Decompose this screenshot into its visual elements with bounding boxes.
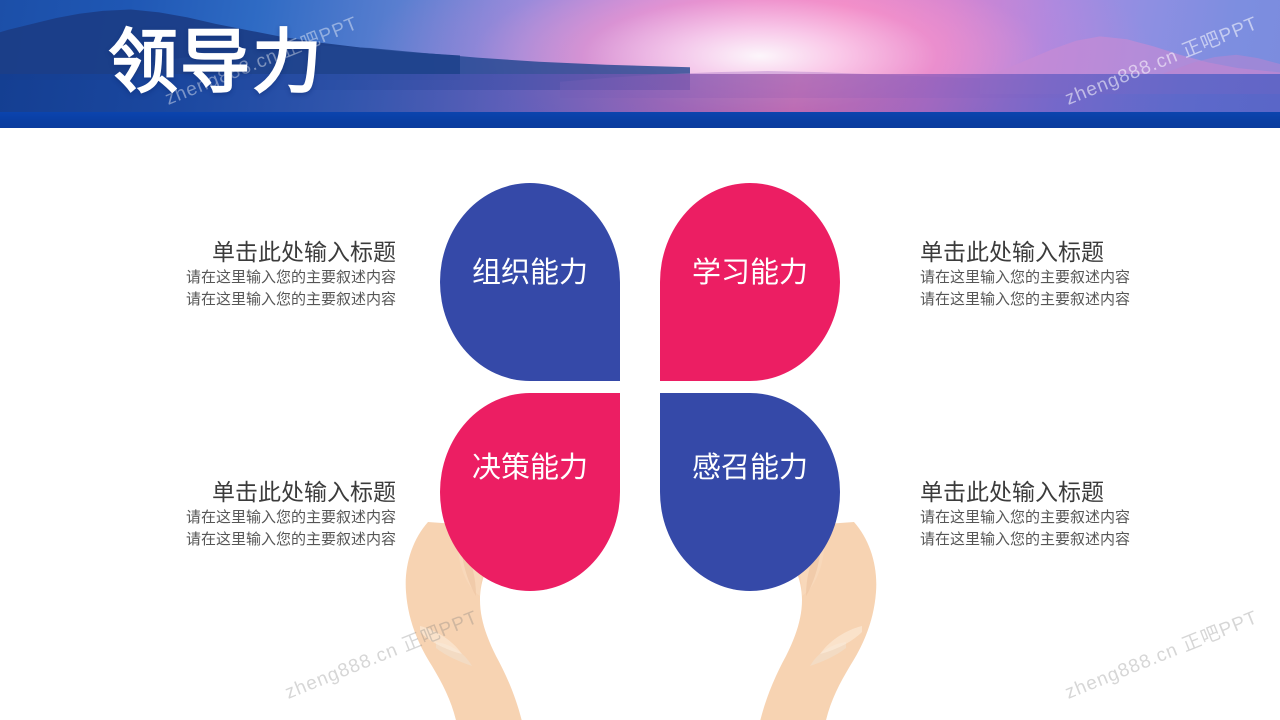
text-block-line: 请在这里输入您的主要叙述内容 bbox=[126, 289, 396, 311]
petal-label-appeal: 感召能力 bbox=[692, 454, 808, 483]
petal-organization[interactable]: 组织能力 bbox=[440, 183, 620, 381]
petal-label-learning: 学习能力 bbox=[692, 259, 808, 288]
text-block-line: 请在这里输入您的主要叙述内容 bbox=[920, 289, 1190, 311]
petal-decision[interactable]: 决策能力 bbox=[440, 393, 620, 591]
text-block-top-right: 单击此处输入标题 请在这里输入您的主要叙述内容 请在这里输入您的主要叙述内容 bbox=[920, 238, 1190, 310]
text-block-title: 单击此处输入标题 bbox=[920, 238, 1190, 267]
banner-bottom-band bbox=[0, 112, 1280, 128]
petal-appeal[interactable]: 感召能力 bbox=[660, 393, 840, 591]
text-block-title: 单击此处输入标题 bbox=[920, 478, 1190, 507]
text-block-line: 请在这里输入您的主要叙述内容 bbox=[126, 267, 396, 289]
watermark-bottom-right: zheng888.cn 正吧PPT bbox=[1060, 602, 1261, 704]
text-block-line: 请在这里输入您的主要叙述内容 bbox=[920, 529, 1190, 551]
text-block-line: 请在这里输入您的主要叙述内容 bbox=[126, 529, 396, 551]
text-block-line: 请在这里输入您的主要叙述内容 bbox=[920, 507, 1190, 529]
text-block-line: 请在这里输入您的主要叙述内容 bbox=[126, 507, 396, 529]
petal-label-organization: 组织能力 bbox=[472, 259, 588, 288]
petal-learning[interactable]: 学习能力 bbox=[660, 183, 840, 381]
text-block-bottom-left: 单击此处输入标题 请在这里输入您的主要叙述内容 请在这里输入您的主要叙述内容 bbox=[126, 478, 396, 550]
text-block-title: 单击此处输入标题 bbox=[126, 478, 396, 507]
slide-canvas: zheng888.cn 正吧PPT zheng888.cn 正吧PPT 领导力 bbox=[0, 0, 1280, 720]
text-block-title: 单击此处输入标题 bbox=[126, 238, 396, 267]
page-title: 领导力 bbox=[108, 16, 324, 108]
text-block-bottom-right: 单击此处输入标题 请在这里输入您的主要叙述内容 请在这里输入您的主要叙述内容 bbox=[920, 478, 1190, 550]
petal-label-decision: 决策能力 bbox=[472, 454, 588, 483]
text-block-top-left: 单击此处输入标题 请在这里输入您的主要叙述内容 请在这里输入您的主要叙述内容 bbox=[126, 238, 396, 310]
text-block-line: 请在这里输入您的主要叙述内容 bbox=[920, 267, 1190, 289]
